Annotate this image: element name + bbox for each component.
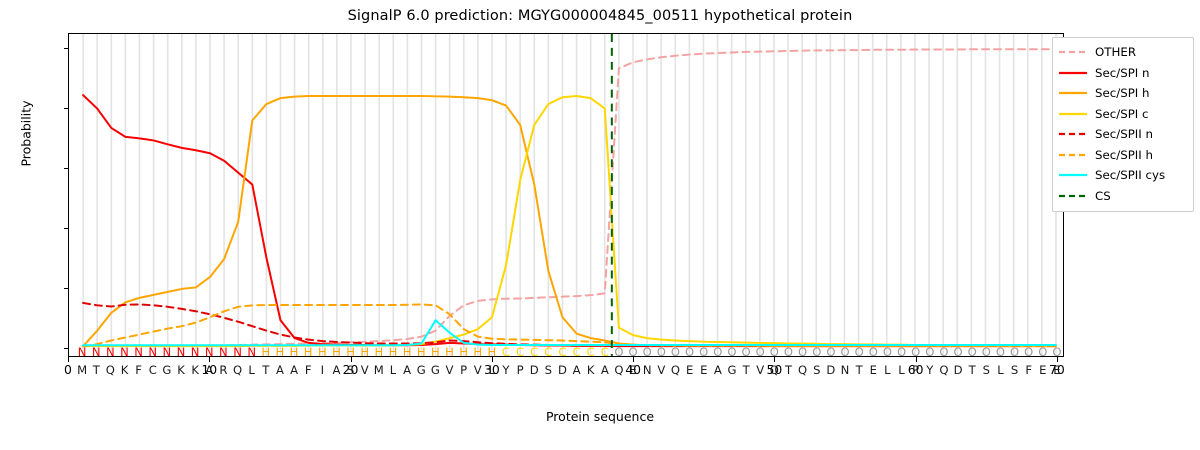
legend-line-icon <box>1058 169 1088 181</box>
legend-item-sec-spii-cys[interactable]: Sec/SPII cys <box>1058 165 1188 186</box>
legend-item-label: Sec/SPI n <box>1095 66 1150 80</box>
legend-item-sec-spii-h[interactable]: Sec/SPII h <box>1058 145 1188 166</box>
legend-item-label: CS <box>1095 189 1111 203</box>
gridlines <box>83 34 1056 356</box>
protein-sequence-row: MTQKFCGKKARQLTAAFIASVMLAGGVPVLYPDSDAKAQE… <box>68 362 1064 378</box>
series-sec-spi-c <box>83 96 1056 346</box>
chart-legend: OTHERSec/SPI nSec/SPI hSec/SPI cSec/SPII… <box>1052 37 1194 212</box>
legend-item-other[interactable]: OTHER <box>1058 42 1188 63</box>
x-axis-label: Protein sequence <box>0 409 1200 424</box>
legend-item-label: OTHER <box>1095 45 1136 59</box>
region-annotation-row: NNNNNNNNNNNNNHHHHHHHHHHHHHHHHHCCCCCCCCOO… <box>68 344 1064 360</box>
region-label: O <box>1047 344 1067 360</box>
legend-line-icon <box>1058 67 1088 79</box>
residue-label: E <box>1047 362 1067 378</box>
legend-item-sec-spi-h[interactable]: Sec/SPI h <box>1058 83 1188 104</box>
legend-line-icon <box>1058 46 1088 58</box>
legend-line-icon <box>1058 149 1088 161</box>
plot-area <box>68 33 1064 357</box>
legend-item-label: Sec/SPI c <box>1095 107 1149 121</box>
legend-line-icon <box>1058 190 1088 202</box>
legend-item-label: Sec/SPII cys <box>1095 168 1165 182</box>
legend-item-label: Sec/SPII h <box>1095 148 1153 162</box>
series-sec-spi-n <box>83 95 1056 346</box>
plot-canvas <box>69 34 1063 356</box>
legend-item-sec-spi-n[interactable]: Sec/SPI n <box>1058 63 1188 84</box>
legend-item-sec-spi-c[interactable]: Sec/SPI c <box>1058 104 1188 125</box>
legend-item-label: Sec/SPI h <box>1095 86 1150 100</box>
signalp-prediction-figure: SignalP 6.0 prediction: MGYG000004845_00… <box>0 0 1200 450</box>
y-axis-label: Probability <box>19 64 34 204</box>
legend-item-cs[interactable]: CS <box>1058 186 1188 207</box>
legend-line-icon <box>1058 128 1088 140</box>
series-sec-spi-h <box>83 96 1056 346</box>
legend-item-label: Sec/SPII n <box>1095 127 1153 141</box>
chart-title: SignalP 6.0 prediction: MGYG000004845_00… <box>0 8 1200 24</box>
legend-line-icon <box>1058 108 1088 120</box>
series-other <box>83 49 1056 345</box>
legend-line-icon <box>1058 87 1088 99</box>
legend-item-sec-spii-n[interactable]: Sec/SPII n <box>1058 124 1188 145</box>
